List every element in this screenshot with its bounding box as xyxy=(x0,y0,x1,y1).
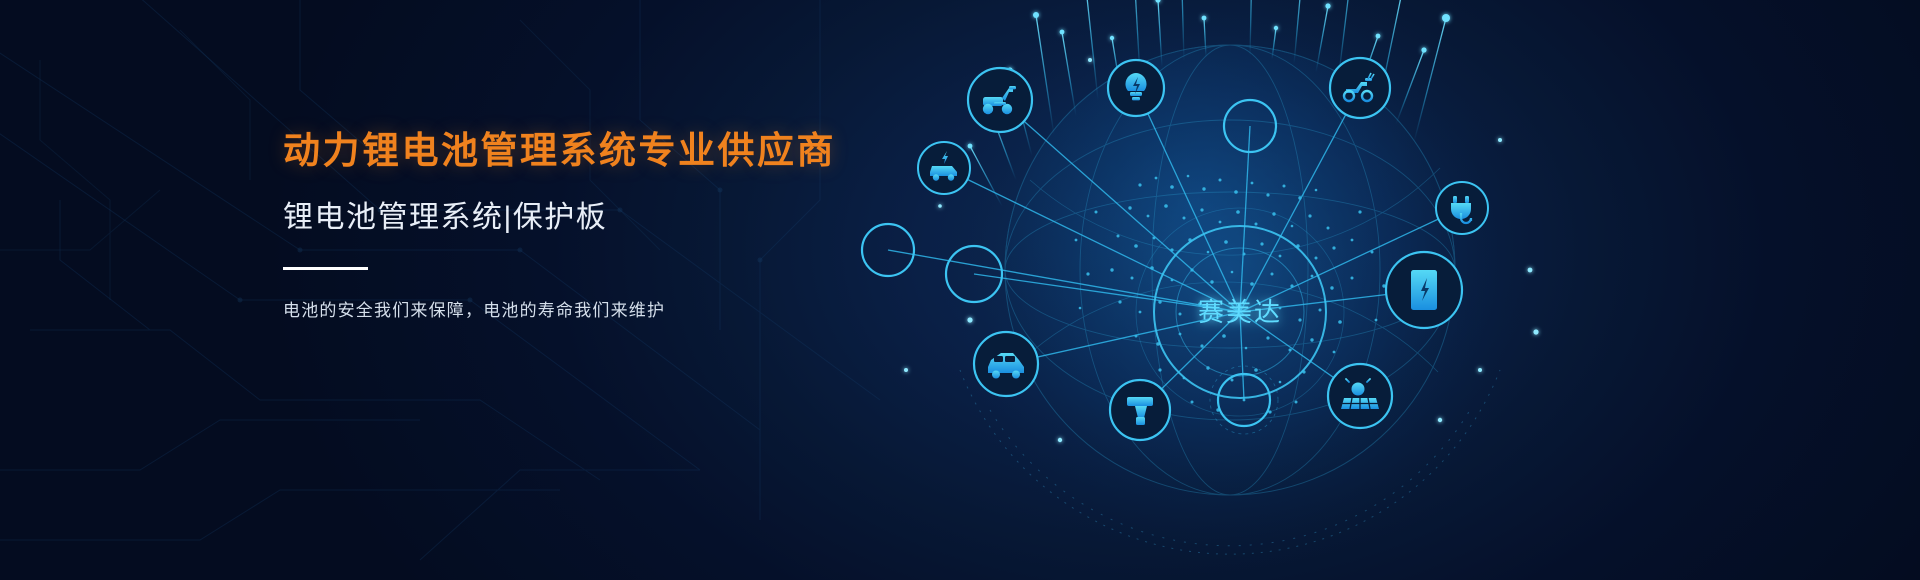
scooter-icon xyxy=(983,86,1016,114)
plug-icon xyxy=(1451,196,1471,223)
node-empty-b[interactable] xyxy=(946,246,1002,302)
network-globe-graphic: 赛美达 xyxy=(840,0,1620,580)
hero-headline: 动力锂电池管理系统专业供应商 xyxy=(283,128,903,174)
lightbulb-icon xyxy=(1125,73,1146,100)
node-power-tool[interactable] xyxy=(1110,380,1170,440)
node-empty-d[interactable] xyxy=(1224,100,1276,152)
node-solar-panel[interactable] xyxy=(1328,364,1392,428)
electric-car-icon xyxy=(930,151,957,181)
node-ev-car-left[interactable] xyxy=(918,142,970,194)
hero-divider xyxy=(283,267,368,270)
hero-copy: 动力锂电池管理系统专业供应商 锂电池管理系统|保护板 电池的安全我们来保障，电池… xyxy=(283,128,903,321)
globe-glints xyxy=(904,58,1539,442)
solar-panel-icon xyxy=(1341,374,1379,409)
data-rays xyxy=(968,0,1450,206)
globe-center-hub: 赛美达 xyxy=(1136,208,1344,416)
node-plug[interactable] xyxy=(1436,182,1488,234)
node-car[interactable] xyxy=(974,332,1038,396)
node-scooter-right[interactable] xyxy=(1330,58,1390,118)
hero-subline: 锂电池管理系统|保护板 xyxy=(283,199,903,237)
battery-icon xyxy=(1411,270,1437,310)
globe-dot-map xyxy=(1075,175,1386,414)
globe-wireframe xyxy=(1005,45,1455,495)
drill-icon xyxy=(1127,397,1153,425)
globe-center-label: 赛美达 xyxy=(1198,297,1282,327)
globe-orbit-arc xyxy=(960,370,1500,554)
scooter-icon xyxy=(1344,73,1374,101)
node-empty-c[interactable] xyxy=(1210,366,1278,434)
node-scooter-top[interactable] xyxy=(968,68,1032,132)
node-links xyxy=(888,88,1462,410)
node-battery-pack[interactable] xyxy=(1386,252,1462,328)
node-bulb[interactable] xyxy=(1108,60,1164,116)
car-icon xyxy=(988,353,1024,379)
hero-tagline: 电池的安全我们来保障，电池的寿命我们来维护 xyxy=(283,296,903,321)
hero-banner: 动力锂电池管理系统专业供应商 锂电池管理系统|保护板 电池的安全我们来保障，电池… xyxy=(0,0,1920,580)
